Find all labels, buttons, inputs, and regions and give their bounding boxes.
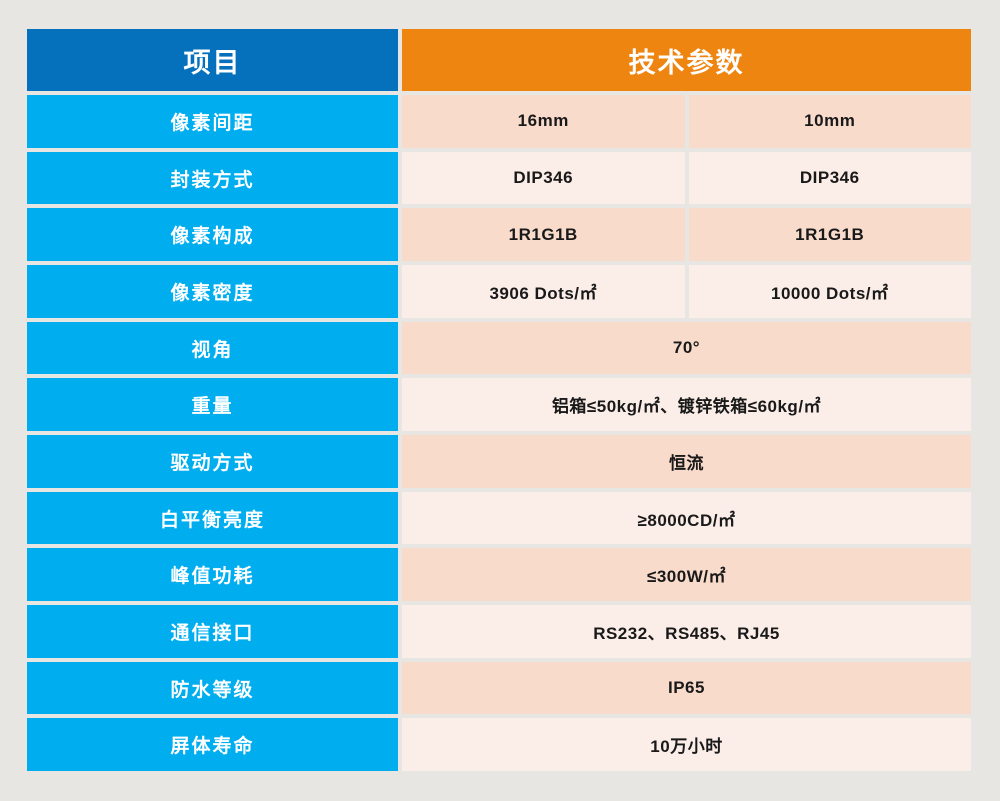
value-cell: ≤300W/㎡ (402, 548, 971, 601)
row-values: 10万小时 (402, 718, 971, 771)
value-cell: 10000 Dots/㎡ (689, 265, 972, 318)
row-values: IP65 (402, 662, 971, 715)
row-values: 70° (402, 322, 971, 375)
value-cell: 1R1G1B (402, 208, 685, 261)
row-values: ≤300W/㎡ (402, 548, 971, 601)
table-row: 峰值功耗≤300W/㎡ (27, 548, 971, 601)
row-label: 视角 (27, 322, 398, 375)
table-row: 封装方式DIP346DIP346 (27, 152, 971, 205)
row-values: DIP346DIP346 (402, 152, 971, 205)
row-values: 铝箱≤50kg/㎡、镀锌铁箱≤60kg/㎡ (402, 378, 971, 431)
value-cell: RS232、RS485、RJ45 (402, 605, 971, 658)
column-header-parameters: 技术参数 (402, 29, 971, 91)
row-label: 防水等级 (27, 662, 398, 715)
value-cell: DIP346 (402, 152, 685, 205)
table-row: 像素构成1R1G1B1R1G1B (27, 208, 971, 261)
value-cell: IP65 (402, 662, 971, 715)
table-header-row: 项目 技术参数 (27, 29, 971, 91)
value-cell: DIP346 (689, 152, 972, 205)
row-label: 通信接口 (27, 605, 398, 658)
row-label: 像素构成 (27, 208, 398, 261)
value-cell: 10万小时 (402, 718, 971, 771)
row-values: RS232、RS485、RJ45 (402, 605, 971, 658)
column-header-item: 项目 (27, 29, 398, 91)
table-row: 屏体寿命10万小时 (27, 718, 971, 771)
row-values: 3906 Dots/㎡10000 Dots/㎡ (402, 265, 971, 318)
row-label: 峰值功耗 (27, 548, 398, 601)
table-row: 视角70° (27, 322, 971, 375)
row-label: 驱动方式 (27, 435, 398, 488)
table-row: 通信接口RS232、RS485、RJ45 (27, 605, 971, 658)
row-label: 屏体寿命 (27, 718, 398, 771)
value-cell: 3906 Dots/㎡ (402, 265, 685, 318)
value-cell: ≥8000CD/㎡ (402, 492, 971, 545)
table-row: 防水等级IP65 (27, 662, 971, 715)
row-values: 恒流 (402, 435, 971, 488)
value-cell: 恒流 (402, 435, 971, 488)
value-cell: 10mm (689, 95, 972, 148)
value-cell: 70° (402, 322, 971, 375)
row-label: 封装方式 (27, 152, 398, 205)
specification-table: 项目 技术参数 像素间距16mm10mm封装方式DIP346DIP346像素构成… (27, 29, 971, 771)
row-values: 1R1G1B1R1G1B (402, 208, 971, 261)
value-cell: 铝箱≤50kg/㎡、镀锌铁箱≤60kg/㎡ (402, 378, 971, 431)
table-row: 驱动方式恒流 (27, 435, 971, 488)
row-label: 像素密度 (27, 265, 398, 318)
table-row: 像素密度3906 Dots/㎡10000 Dots/㎡ (27, 265, 971, 318)
table-row: 像素间距16mm10mm (27, 95, 971, 148)
value-cell: 16mm (402, 95, 685, 148)
row-values: 16mm10mm (402, 95, 971, 148)
table-body: 像素间距16mm10mm封装方式DIP346DIP346像素构成1R1G1B1R… (27, 95, 971, 771)
row-label: 像素间距 (27, 95, 398, 148)
row-values: ≥8000CD/㎡ (402, 492, 971, 545)
row-label: 白平衡亮度 (27, 492, 398, 545)
row-label: 重量 (27, 378, 398, 431)
table-row: 白平衡亮度≥8000CD/㎡ (27, 492, 971, 545)
table-row: 重量铝箱≤50kg/㎡、镀锌铁箱≤60kg/㎡ (27, 378, 971, 431)
value-cell: 1R1G1B (689, 208, 972, 261)
